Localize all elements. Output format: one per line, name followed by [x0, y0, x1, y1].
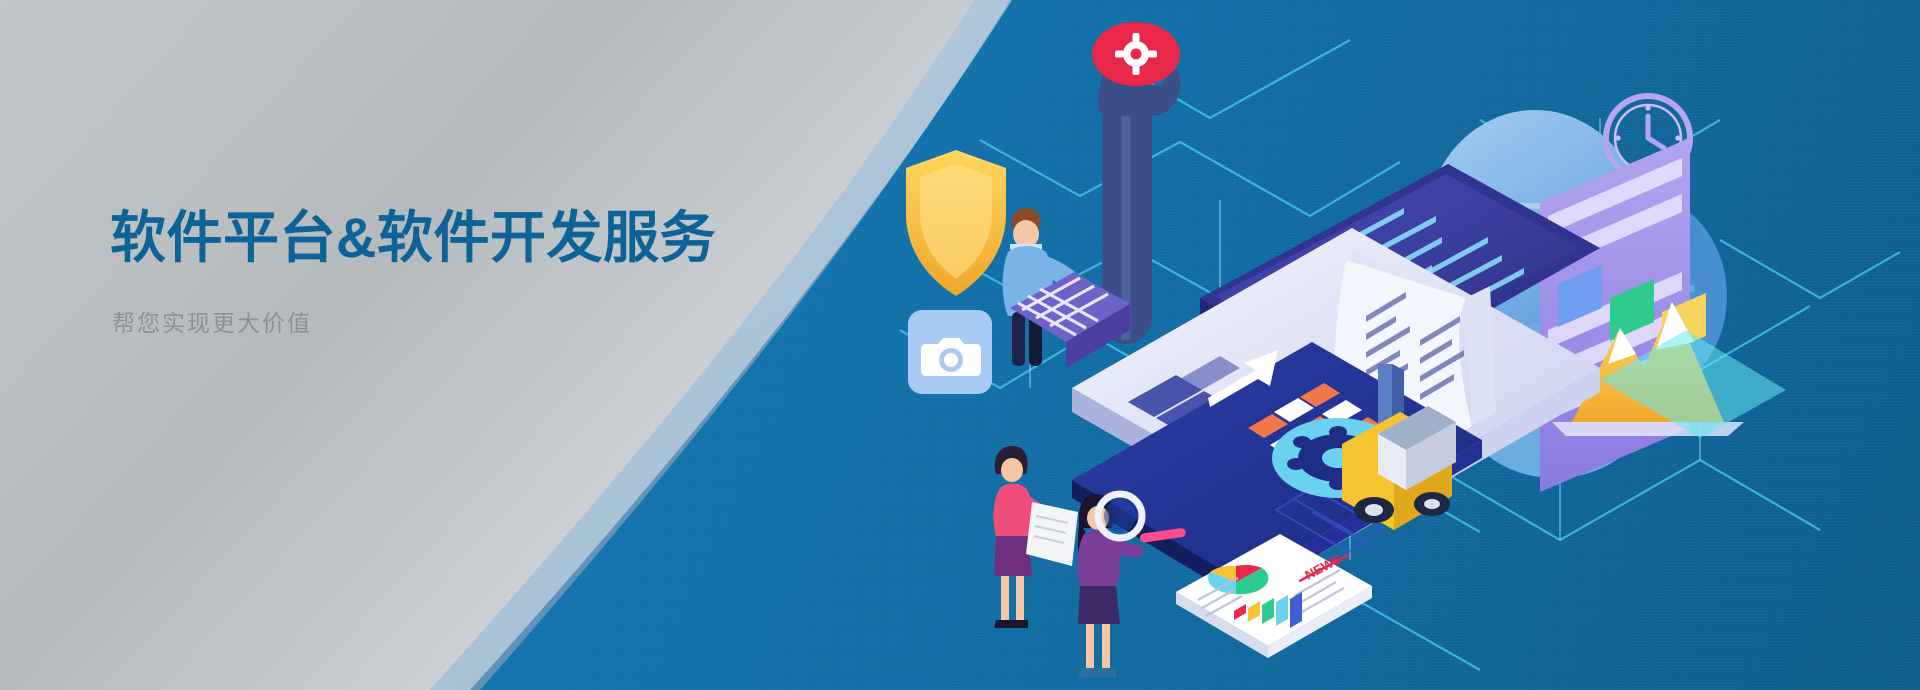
camera-icon	[908, 310, 992, 394]
document-sheet	[1026, 502, 1078, 566]
curve-gray-wedge	[0, 0, 975, 690]
banner-headline: 软件平台&软件开发服务	[110, 205, 870, 271]
gear-badge-icon	[1092, 22, 1180, 86]
banner-copy: 软件平台&软件开发服务 帮您实现更大价值	[110, 205, 870, 339]
analyst-figure-pink	[993, 446, 1078, 628]
hero-banner: 软件平台&软件开发服务 帮您实现更大价值	[0, 0, 1920, 690]
shield-icon	[906, 150, 1006, 296]
banner-subheadline: 帮您实现更大价值	[112, 307, 870, 339]
hero-illustration: NEWS	[880, 0, 1920, 690]
